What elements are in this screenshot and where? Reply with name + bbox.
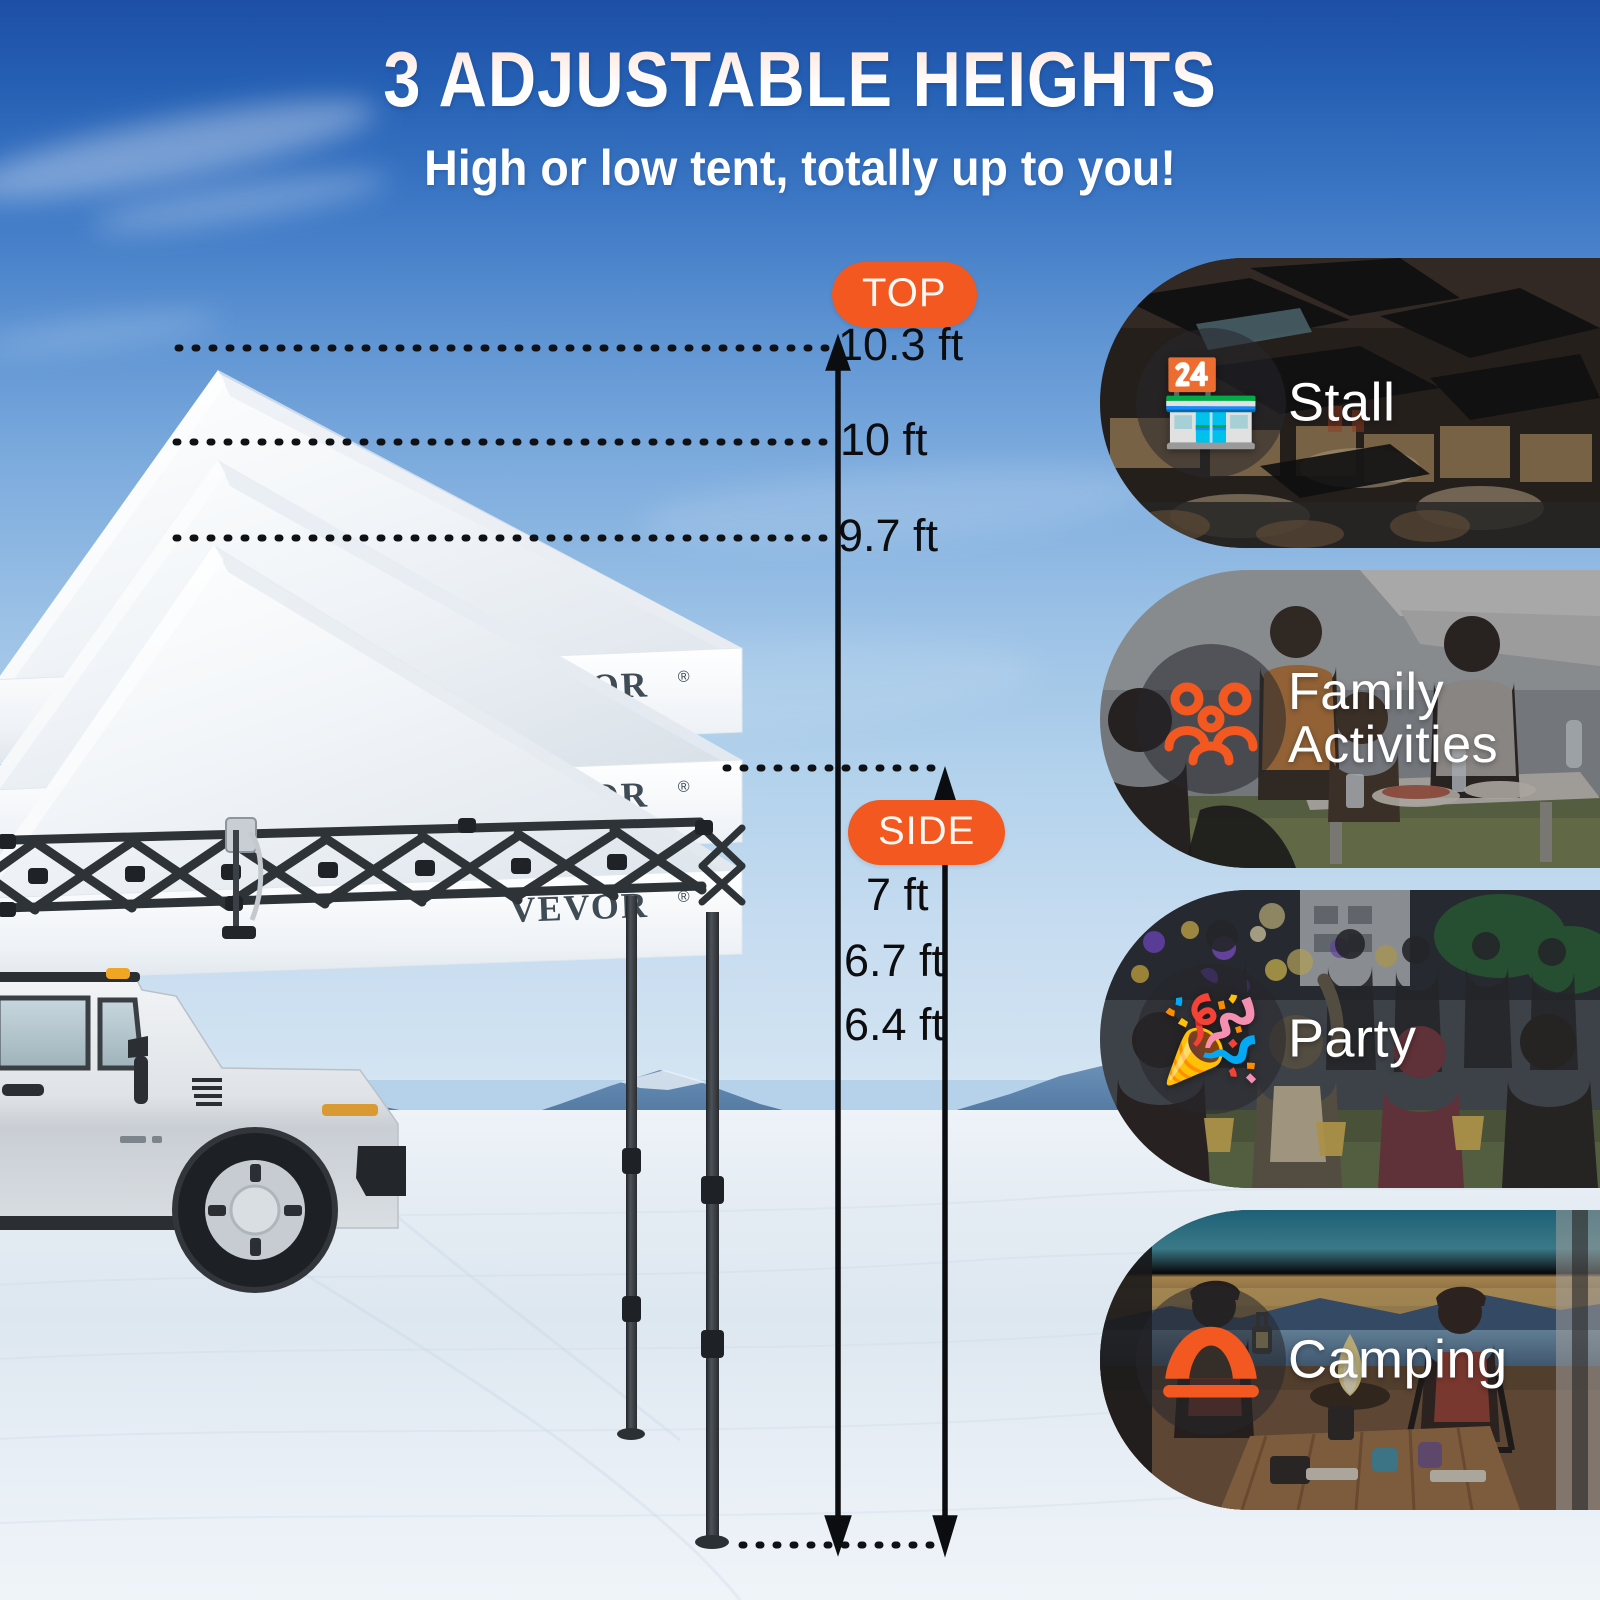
dim-label-top-3: 9.7 ft — [838, 513, 938, 558]
page-title: 3 ADJUSTABLE HEIGHTS — [112, 42, 1488, 117]
use-case-label-party: Party — [1288, 1011, 1588, 1066]
use-case-label-family: Family Activities — [1288, 666, 1588, 772]
market-stall-icon: 🏪 — [1159, 361, 1264, 445]
stall-icon-bubble: 🏪 — [1136, 328, 1286, 478]
party-icon-bubble: 🎉 — [1136, 964, 1286, 1114]
use-case-card-camping[interactable]: Camping — [1100, 1210, 1600, 1510]
page-subtitle: High or low tent, totally up to you! — [56, 139, 1544, 197]
use-case-card-party[interactable]: 🎉 Party — [1100, 890, 1600, 1188]
dim-label-side-1: 7 ft — [866, 872, 929, 917]
side-badge: SIDE — [848, 800, 1005, 865]
use-case-label-stall: Stall — [1288, 375, 1588, 430]
tent-icon — [1159, 1308, 1263, 1412]
party-popper-icon: 🎉 — [1159, 997, 1264, 1081]
leg-front — [706, 912, 719, 1544]
tent-legs — [617, 896, 729, 1549]
suv-vehicle — [0, 928, 440, 1328]
use-case-card-family[interactable]: Family Activities — [1100, 570, 1600, 868]
use-case-card-stall[interactable]: 🏪 Stall — [1100, 258, 1600, 548]
family-group-icon — [1161, 669, 1261, 769]
infographic-canvas: VEVOR ® VEVOR ® VEVOR ® — [0, 0, 1600, 1600]
dim-label-top-1: 10.3 ft — [838, 322, 963, 367]
registered-mark-rear: ® — [677, 669, 690, 686]
family-icon-bubble — [1136, 644, 1286, 794]
registered-mark-middle: ® — [677, 779, 690, 796]
use-case-label-camping: Camping — [1288, 1332, 1588, 1387]
camping-icon-bubble — [1136, 1285, 1286, 1435]
dim-label-side-2: 6.7 ft — [844, 938, 944, 983]
use-case-card-list: 🏪 Stall — [1100, 258, 1600, 1532]
dim-label-side-3: 6.4 ft — [844, 1002, 944, 1047]
top-badge: TOP — [832, 262, 977, 327]
headline-block: 3 ADJUSTABLE HEIGHTS High or low tent, t… — [0, 42, 1600, 197]
dim-label-top-2: 10 ft — [840, 417, 928, 462]
